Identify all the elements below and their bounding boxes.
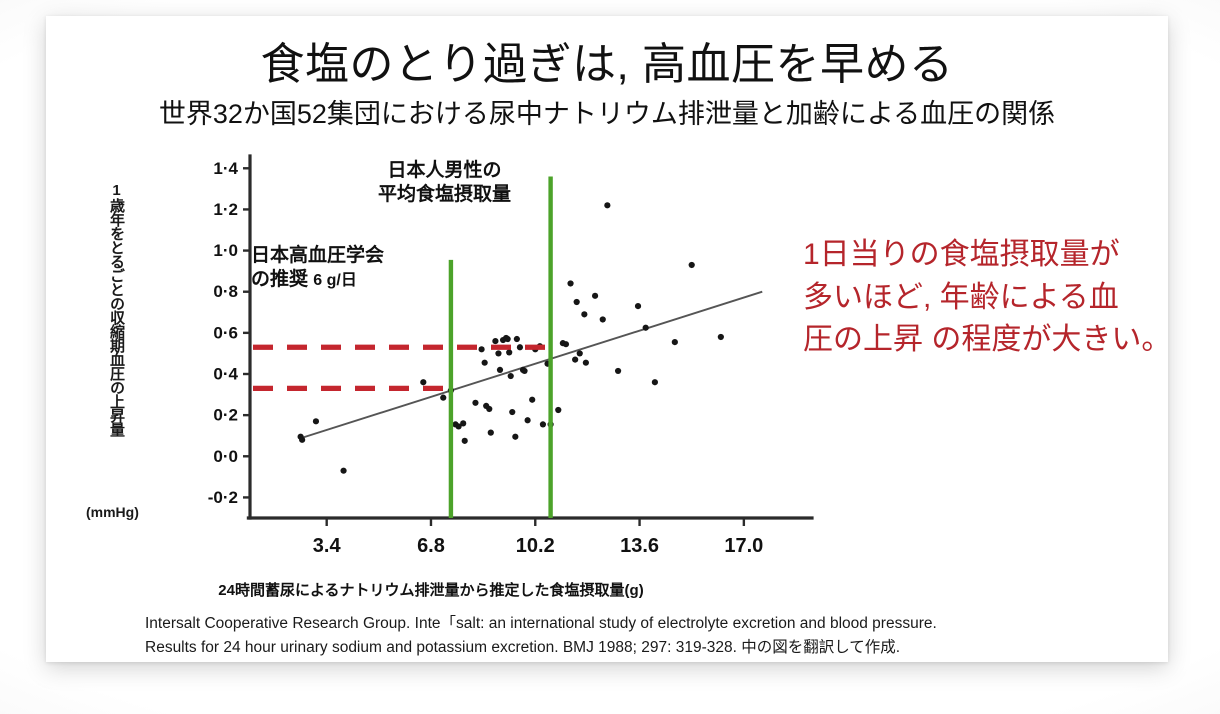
annotation-recommended-prefix: の推奨 (251, 269, 308, 290)
page-title: 食塩のとり過ぎは, 高血圧を早める (46, 42, 1168, 88)
data-point (478, 346, 484, 352)
x-tick-label: 13.6 (620, 535, 659, 557)
x-tick-label: 6.8 (417, 535, 445, 557)
data-point (718, 334, 724, 340)
citation-line-2: Results for 24 hour urinary sodium and p… (145, 636, 1155, 660)
data-point (635, 303, 641, 309)
y-tick-label: 0·0 (213, 447, 238, 466)
scatter-chart: 1·41·21·00·80·60·40·20·0-0·23.46.810.213… (124, 146, 824, 606)
data-point (525, 417, 531, 423)
commentary-line-1: 1日当りの食塩摂取量が (803, 234, 1173, 277)
data-point (440, 395, 446, 401)
data-point (600, 316, 606, 322)
data-point (505, 336, 511, 342)
x-axis-title: 24時間蓄尿によるナトリウム排泄量から推定した食塩摂取量(g) (196, 579, 666, 600)
annotation-average-intake: 日本人男性の 平均食塩摂取量 (378, 159, 511, 207)
regression-line (302, 292, 762, 438)
y-tick-label: 0·8 (213, 282, 238, 301)
citation: Intersalt Cooperative Research Group. In… (145, 612, 1155, 659)
page-subtitle: 世界32か国52集団における尿中ナトリウム排泄量と加齢による血圧の関係 (46, 100, 1168, 130)
data-point (604, 202, 610, 208)
data-point (643, 325, 649, 331)
x-tick-label: 10.2 (516, 535, 555, 557)
y-axis-title: 1歳年をとるごとの収縮期血圧の上昇量 (98, 182, 124, 436)
data-point (497, 367, 503, 373)
data-point (492, 338, 498, 344)
data-point (577, 350, 583, 356)
data-point (313, 418, 319, 424)
annotation-recommended-intake-line2: の推奨 6 g/日 (251, 268, 384, 292)
data-point (512, 434, 518, 440)
annotation-recommended-value: 6 g/日 (313, 272, 357, 289)
commentary-line-2: 多いほど, 年齢による血 (803, 277, 1173, 320)
data-point (488, 430, 494, 436)
data-point (420, 379, 426, 385)
data-point (514, 336, 520, 342)
data-point (340, 468, 346, 474)
data-point (563, 341, 569, 347)
commentary-line-3: 圧の上昇 の程度が大きい。 (803, 319, 1173, 362)
data-point (529, 397, 535, 403)
data-point (521, 368, 527, 374)
data-point (652, 379, 658, 385)
data-point (583, 360, 589, 366)
citation-line-1: Intersalt Cooperative Research Group. In… (145, 612, 1155, 636)
data-point (462, 438, 468, 444)
slide-canvas: 食塩のとり過ぎは, 高血圧を早める 世界32か国52集団における尿中ナトリウム排… (0, 0, 1220, 714)
data-point (689, 262, 695, 268)
commentary-text: 1日当りの食塩摂取量が 多いほど, 年齢による血 圧の上昇 の程度が大きい。 (803, 234, 1173, 362)
data-point (509, 409, 515, 415)
x-tick-label: 3.4 (313, 535, 342, 557)
data-point (460, 420, 466, 426)
data-point (517, 344, 523, 350)
y-tick-label: 1·0 (213, 241, 238, 260)
data-point (672, 339, 678, 345)
data-point (482, 360, 488, 366)
annotation-recommended-intake: 日本高血圧学会 の推奨 6 g/日 (251, 244, 384, 292)
slide-card: 食塩のとり過ぎは, 高血圧を早める 世界32か国52集団における尿中ナトリウム排… (46, 16, 1168, 662)
data-point (506, 349, 512, 355)
y-tick-label: 0·6 (213, 323, 238, 342)
y-tick-label: 1·4 (213, 159, 238, 178)
data-point (540, 421, 546, 427)
y-tick-label: 1·2 (213, 200, 238, 219)
data-point (615, 368, 621, 374)
data-point (581, 311, 587, 317)
data-point (574, 299, 580, 305)
data-point (486, 406, 492, 412)
y-tick-label: 0·2 (213, 406, 238, 425)
x-tick-label: 17.0 (724, 535, 763, 557)
y-tick-label: -0·2 (208, 488, 238, 507)
data-point (495, 350, 501, 356)
y-tick-label: 0·4 (213, 365, 238, 384)
data-point (472, 400, 478, 406)
chart-svg: 1·41·21·00·80·60·40·20·0-0·23.46.810.213… (124, 146, 824, 606)
annotation-recommended-intake-line1: 日本高血圧学会 (251, 244, 384, 268)
data-point (555, 407, 561, 413)
annotation-average-intake-line2: 平均食塩摂取量 (378, 183, 511, 207)
annotation-average-intake-line1: 日本人男性の (378, 159, 511, 183)
data-point (299, 437, 305, 443)
data-point (567, 280, 573, 286)
data-point (508, 373, 514, 379)
data-point (572, 357, 578, 363)
data-point (592, 293, 598, 299)
